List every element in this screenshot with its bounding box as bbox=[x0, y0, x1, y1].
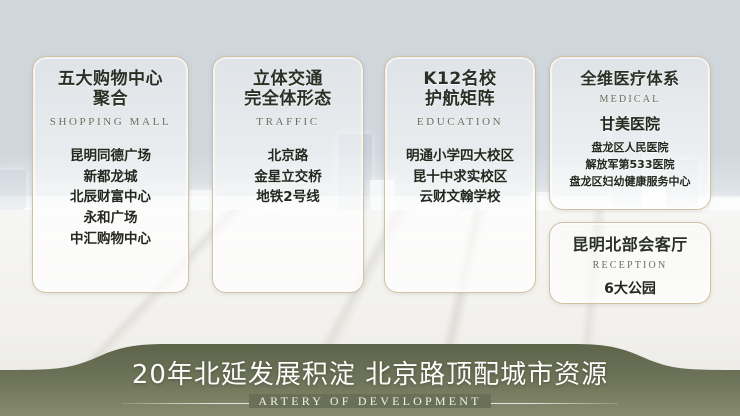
list-item: 盘龙区人民医院 bbox=[570, 139, 691, 156]
card-title-en: TRAFFIC bbox=[256, 116, 319, 128]
card-item-list: 昆明同德广场 新都龙城 北辰财富中心 永和广场 中汇购物中心 bbox=[70, 146, 151, 249]
card-traffic[interactable]: 立体交通 完全体形态 TRAFFIC 北京路 金星立交桥 地铁2号线 bbox=[212, 56, 364, 293]
card-title-cn: 立体交通 完全体形态 bbox=[244, 70, 332, 109]
banner-subline: ARTERY OF DEVELOPMENT bbox=[0, 394, 740, 409]
list-item: 解放军第533医院 bbox=[570, 156, 691, 173]
card-item-list: 盘龙区人民医院 解放军第533医院 盘龙区妇幼健康服务中心 bbox=[570, 139, 691, 190]
list-item: 地铁2号线 bbox=[254, 187, 322, 208]
card-lead-item: 甘美医院 bbox=[600, 113, 660, 134]
list-item: 盘龙区妇幼健康服务中心 bbox=[570, 173, 691, 190]
list-item: 云财文翰学校 bbox=[406, 187, 514, 208]
card-title-cn: 昆明北部会客厅 bbox=[572, 236, 688, 255]
card-title-en: SHOPPING MALL bbox=[50, 116, 172, 128]
card-item-list: 明通小学四大校区 昆十中求实校区 云财文翰学校 bbox=[406, 146, 514, 208]
card-title-cn: 五大购物中心 聚合 bbox=[58, 70, 163, 109]
list-item: 中汇购物中心 bbox=[70, 229, 151, 250]
card-medical[interactable]: 全维医疗体系 MEDICAL 甘美医院 盘龙区人民医院 解放军第533医院 盘龙… bbox=[549, 56, 711, 210]
card-lead-item: 6大公园 bbox=[604, 278, 656, 298]
list-item: 永和广场 bbox=[70, 208, 151, 229]
list-item: 昆明同德广场 bbox=[70, 146, 151, 167]
list-item: 北辰财富中心 bbox=[70, 187, 151, 208]
card-title-en: RECEPTION bbox=[593, 260, 668, 271]
bottom-banner: 20年北延发展积淀 北京路顶配城市资源 ARTERY OF DEVELOPMEN… bbox=[0, 342, 740, 416]
card-reception[interactable]: 昆明北部会客厅 RECEPTION 6大公园 bbox=[549, 222, 711, 304]
card-education[interactable]: K12名校 护航矩阵 EDUCATION 明通小学四大校区 昆十中求实校区 云财… bbox=[384, 56, 536, 293]
list-item: 明通小学四大校区 bbox=[406, 146, 514, 167]
poster-stage: 五大购物中心 聚合 SHOPPING MALL 昆明同德广场 新都龙城 北辰财富… bbox=[0, 0, 740, 416]
list-item: 北京路 bbox=[254, 146, 322, 167]
banner-headline: 20年北延发展积淀 北京路顶配城市资源 bbox=[0, 354, 740, 391]
card-title-cn: K12名校 护航矩阵 bbox=[423, 70, 496, 109]
card-item-list: 北京路 金星立交桥 地铁2号线 bbox=[254, 146, 322, 208]
card-title-cn: 全维医疗体系 bbox=[580, 70, 679, 89]
list-item: 新都龙城 bbox=[70, 167, 151, 188]
feature-card-grid: 五大购物中心 聚合 SHOPPING MALL 昆明同德广场 新都龙城 北辰财富… bbox=[0, 0, 740, 330]
card-title-en: MEDICAL bbox=[600, 94, 661, 105]
list-item: 昆十中求实校区 bbox=[406, 167, 514, 188]
list-item: 金星立交桥 bbox=[254, 167, 322, 188]
card-shopping-mall[interactable]: 五大购物中心 聚合 SHOPPING MALL 昆明同德广场 新都龙城 北辰财富… bbox=[32, 56, 189, 293]
card-title-en: EDUCATION bbox=[417, 116, 503, 128]
